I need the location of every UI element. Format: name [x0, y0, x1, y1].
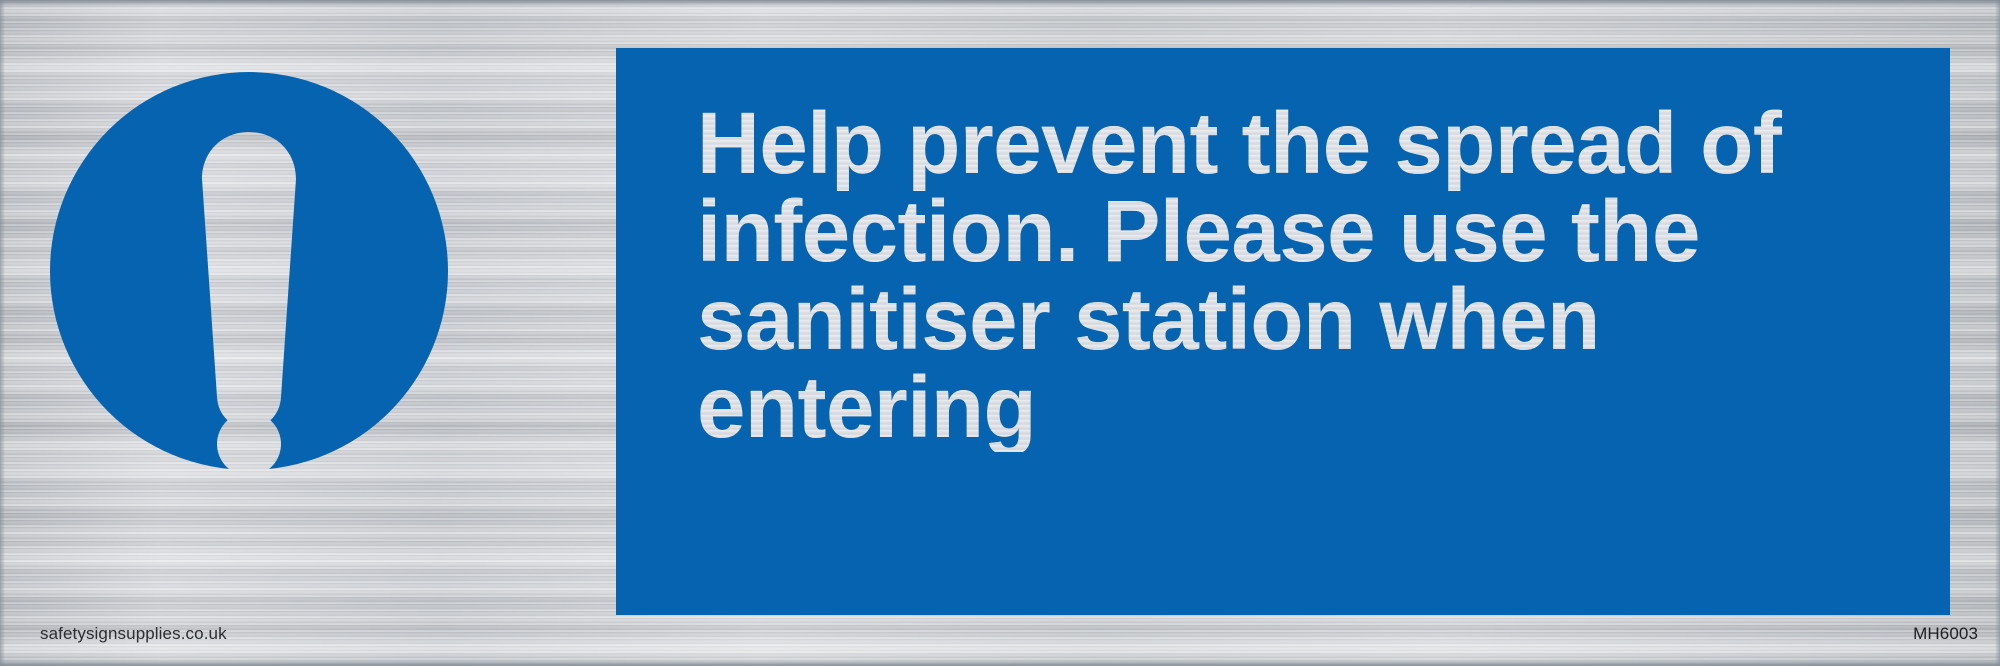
- message-line-3: sanitiser station when: [697, 276, 1897, 364]
- website-credit: safetysignsupplies.co.uk: [40, 624, 227, 644]
- message-line-1: Help prevent the spread of: [697, 100, 1897, 188]
- plate-bevel-left: [0, 0, 5, 666]
- plate-bevel-bottom: [0, 657, 2000, 666]
- safety-sign: Help prevent the spread of infection. Pl…: [0, 0, 2000, 666]
- message-text: Help prevent the spread of infection. Pl…: [697, 100, 1897, 452]
- product-code: MH6003: [1913, 624, 1978, 644]
- mandatory-exclamation-icon: [50, 72, 448, 470]
- plate-bevel-top: [0, 0, 2000, 9]
- message-panel: Help prevent the spread of infection. Pl…: [616, 48, 1950, 615]
- message-line-2: infection. Please use the: [697, 188, 1897, 276]
- message-line-4: entering: [697, 364, 1897, 452]
- plate-bevel-right: [1995, 0, 2000, 666]
